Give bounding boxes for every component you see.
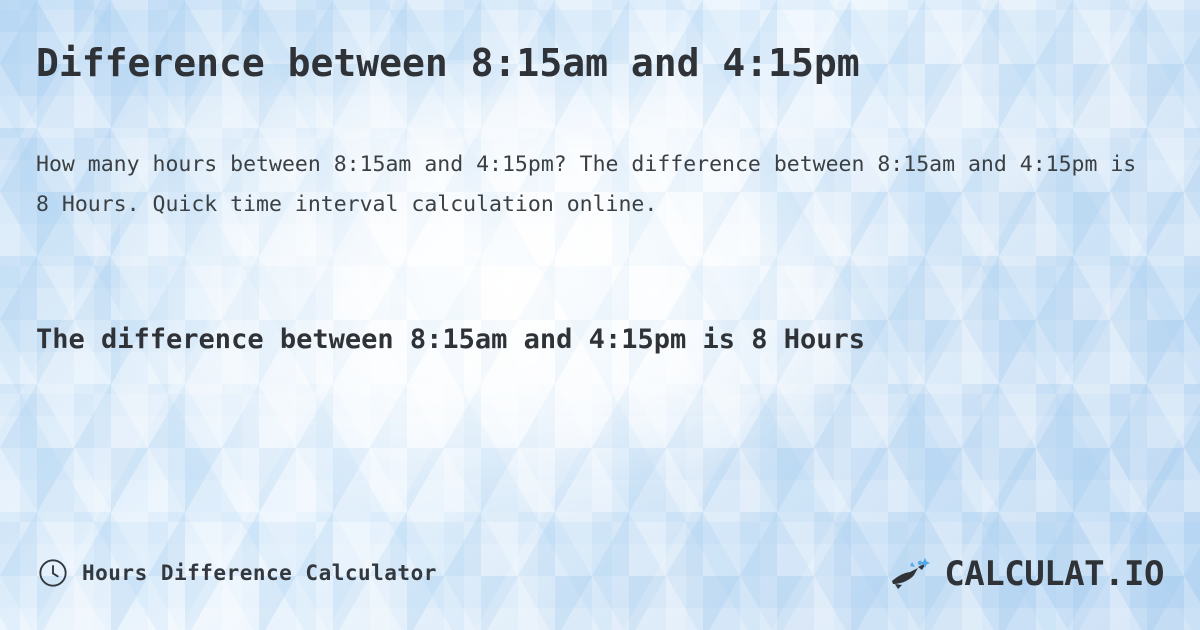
answer-heading: The difference between 8:15am and 4:15pm… bbox=[36, 315, 1146, 365]
brand-logo[interactable]: CALCULAT.IO bbox=[888, 554, 1164, 594]
share-card: Difference between 8:15am and 4:15pm How… bbox=[0, 0, 1200, 630]
brand-text: CALCULAT.IO bbox=[944, 554, 1164, 594]
footer-label: Hours Difference Calculator bbox=[82, 561, 437, 585]
content-area: Difference between 8:15am and 4:15pm bbox=[0, 0, 1200, 86]
background-highlight bbox=[120, 60, 880, 530]
footer-calculator-link[interactable]: Hours Difference Calculator bbox=[38, 558, 437, 588]
clock-icon bbox=[38, 558, 68, 588]
footer: Hours Difference Calculator CALCULAT.IO bbox=[0, 544, 1200, 630]
page-title: Difference between 8:15am and 4:15pm bbox=[36, 40, 1164, 86]
page-description: How many hours between 8:15am and 4:15pm… bbox=[36, 145, 1141, 225]
calculatio-bird-icon bbox=[888, 554, 938, 594]
